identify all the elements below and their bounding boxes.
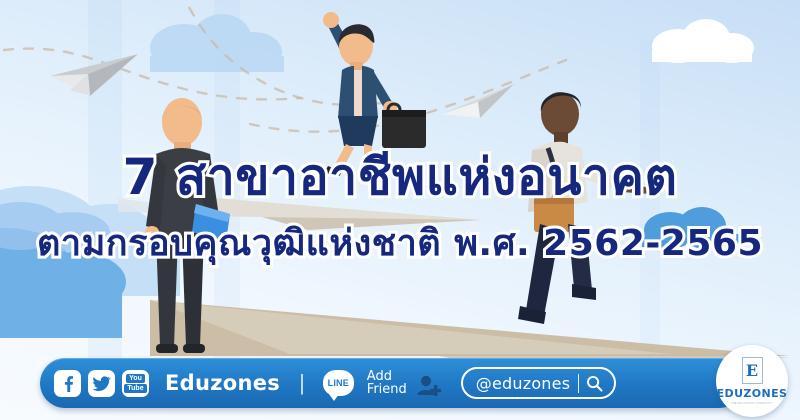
pill-separator xyxy=(578,374,579,393)
line-label: LINE xyxy=(328,378,349,388)
logo-letter-box: E xyxy=(742,357,763,384)
logo-wordmark: EDUZONES xyxy=(717,387,788,400)
add-friend-label[interactable]: Add Friend xyxy=(367,370,407,396)
line-icon[interactable]: LINE xyxy=(323,370,354,396)
figure-pointing-man xyxy=(498,78,688,348)
add-friend-line2: Friend xyxy=(367,383,407,396)
social-bar: You Tube Eduzones | LINE Add Friend xyxy=(40,358,744,408)
youtube-bottom-label: Tube xyxy=(124,384,146,393)
banner-image: 7 สาขาอาชีพแห่งอนาคต ตามกรอบคุณวุฒิแห่งช… xyxy=(0,0,800,420)
logo-letter: E xyxy=(746,361,758,380)
cloud-top-right-white xyxy=(640,18,760,66)
handle-search-pill[interactable]: @eduzones xyxy=(461,367,616,399)
youtube-icon[interactable]: You Tube xyxy=(122,370,149,397)
footer-divider: | xyxy=(299,370,305,396)
footer: You Tube Eduzones | LINE Add Friend xyxy=(0,342,800,420)
search-icon[interactable] xyxy=(586,375,603,392)
facebook-icon[interactable] xyxy=(54,370,81,397)
twitter-icon[interactable] xyxy=(88,370,115,397)
eduzones-logo-badge[interactable]: E EDUZONES THE EDUCATION COMMUNITY xyxy=(716,345,788,417)
logo-tagline: THE EDUCATION COMMUNITY xyxy=(731,402,772,405)
page-title-line1: 7 สาขาอาชีพแห่งอนาคต xyxy=(0,148,800,206)
add-person-icon[interactable] xyxy=(416,373,442,397)
page-title-line2: ตามกรอบคุณวุฒิแห่งชาติ พ.ศ. 2562-2565 xyxy=(0,222,800,266)
brand-label: Eduzones xyxy=(165,371,280,395)
handle-label: @eduzones xyxy=(476,374,570,393)
youtube-top-label: You xyxy=(126,374,145,383)
paper-plane-top-left xyxy=(48,50,142,100)
